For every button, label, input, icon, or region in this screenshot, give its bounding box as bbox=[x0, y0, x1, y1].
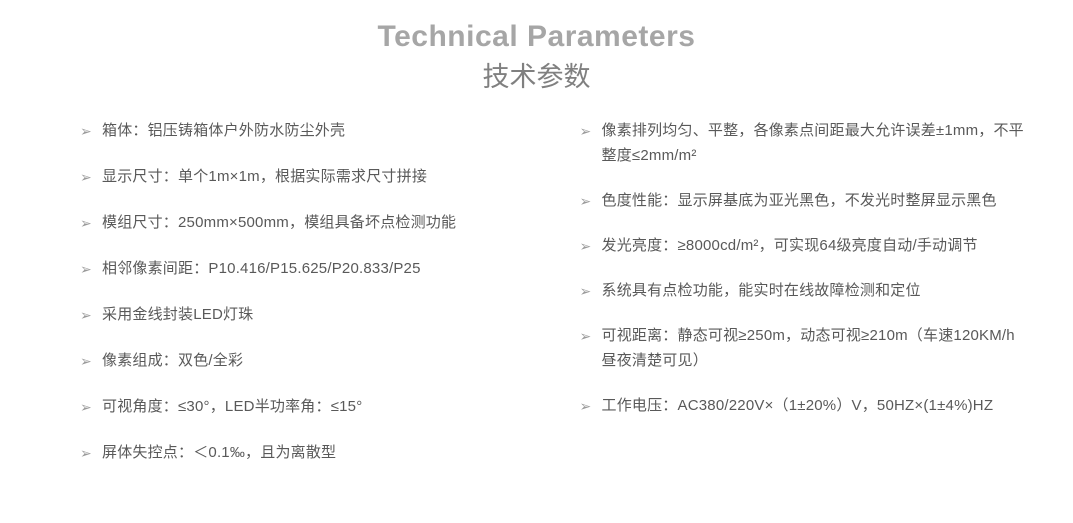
arrow-bullet-icon: ➢ bbox=[80, 394, 102, 419]
list-item-text: 显示尺寸：单个1m×1m，根据实际需求尺寸拼接 bbox=[102, 164, 517, 189]
arrow-bullet-icon: ➢ bbox=[580, 188, 602, 213]
list-item-text: 采用金线封装LED灯珠 bbox=[102, 302, 517, 327]
arrow-bullet-icon: ➢ bbox=[580, 278, 602, 303]
list-item: ➢ 可视角度：≤30°，LED半功率角：≤15° bbox=[80, 394, 517, 419]
list-item: ➢ 色度性能：显示屏基底为亚光黑色，不发光时整屏显示黑色 bbox=[580, 188, 1029, 213]
list-item: ➢ 工作电压：AC380/220V×（1±20%）V，50HZ×(1±4%)HZ bbox=[580, 393, 1029, 418]
list-item-text: 箱体：铝压铸箱体户外防水防尘外壳 bbox=[102, 118, 517, 143]
list-item-text: 可视距离：静态可视≥250m，动态可视≥210m（车速120KM/h昼夜清楚可见… bbox=[602, 323, 1029, 373]
list-item-text: 发光亮度：≥8000cd/m²，可实现64级亮度自动/手动调节 bbox=[602, 233, 1029, 258]
list-item-text: 工作电压：AC380/220V×（1±20%）V，50HZ×(1±4%)HZ bbox=[602, 393, 1029, 418]
arrow-bullet-icon: ➢ bbox=[80, 164, 102, 189]
page-title-english: Technical Parameters bbox=[0, 0, 1073, 56]
parameters-columns: ➢ 箱体：铝压铸箱体户外防水防尘外壳 ➢ 显示尺寸：单个1m×1m，根据实际需求… bbox=[0, 118, 1073, 486]
list-item: ➢ 相邻像素间距：P10.416/P15.625/P20.833/P25 bbox=[80, 256, 517, 281]
arrow-bullet-icon: ➢ bbox=[80, 118, 102, 143]
list-item: ➢ 箱体：铝压铸箱体户外防水防尘外壳 bbox=[80, 118, 517, 143]
list-item-text: 色度性能：显示屏基底为亚光黑色，不发光时整屏显示黑色 bbox=[602, 188, 1029, 213]
list-item-text: 模组尺寸：250mm×500mm，模组具备坏点检测功能 bbox=[102, 210, 517, 235]
list-item: ➢ 采用金线封装LED灯珠 bbox=[80, 302, 517, 327]
list-item: ➢ 显示尺寸：单个1m×1m，根据实际需求尺寸拼接 bbox=[80, 164, 517, 189]
list-item-text: 系统具有点检功能，能实时在线故障检测和定位 bbox=[602, 278, 1029, 303]
list-item-text: 像素组成：双色/全彩 bbox=[102, 348, 517, 373]
page-title-chinese: 技术参数 bbox=[0, 58, 1073, 96]
arrow-bullet-icon: ➢ bbox=[80, 256, 102, 281]
list-item-text: 屏体失控点：＜0.1‰，且为离散型 bbox=[102, 440, 517, 465]
right-parameter-column: ➢ 像素排列均匀、平整，各像素点间距最大允许误差±1mm，不平整度≤2mm/m²… bbox=[537, 118, 1073, 486]
list-item: ➢ 系统具有点检功能，能实时在线故障检测和定位 bbox=[580, 278, 1029, 303]
left-parameter-column: ➢ 箱体：铝压铸箱体户外防水防尘外壳 ➢ 显示尺寸：单个1m×1m，根据实际需求… bbox=[0, 118, 537, 486]
arrow-bullet-icon: ➢ bbox=[580, 393, 602, 418]
list-item: ➢ 屏体失控点：＜0.1‰，且为离散型 bbox=[80, 440, 517, 465]
list-item-text: 可视角度：≤30°，LED半功率角：≤15° bbox=[102, 394, 517, 419]
arrow-bullet-icon: ➢ bbox=[580, 233, 602, 258]
list-item: ➢ 可视距离：静态可视≥250m，动态可视≥210m（车速120KM/h昼夜清楚… bbox=[580, 323, 1029, 373]
arrow-bullet-icon: ➢ bbox=[580, 323, 602, 348]
arrow-bullet-icon: ➢ bbox=[580, 118, 602, 143]
list-item-text: 像素排列均匀、平整，各像素点间距最大允许误差±1mm，不平整度≤2mm/m² bbox=[602, 118, 1029, 168]
list-item: ➢ 发光亮度：≥8000cd/m²，可实现64级亮度自动/手动调节 bbox=[580, 233, 1029, 258]
list-item: ➢ 像素组成：双色/全彩 bbox=[80, 348, 517, 373]
arrow-bullet-icon: ➢ bbox=[80, 348, 102, 373]
list-item-text: 相邻像素间距：P10.416/P15.625/P20.833/P25 bbox=[102, 256, 517, 281]
arrow-bullet-icon: ➢ bbox=[80, 440, 102, 465]
technical-parameters-page: Technical Parameters 技术参数 ➢ 箱体：铝压铸箱体户外防水… bbox=[0, 0, 1073, 523]
list-item: ➢ 像素排列均匀、平整，各像素点间距最大允许误差±1mm，不平整度≤2mm/m² bbox=[580, 118, 1029, 168]
arrow-bullet-icon: ➢ bbox=[80, 210, 102, 235]
list-item: ➢ 模组尺寸：250mm×500mm，模组具备坏点检测功能 bbox=[80, 210, 517, 235]
arrow-bullet-icon: ➢ bbox=[80, 302, 102, 327]
